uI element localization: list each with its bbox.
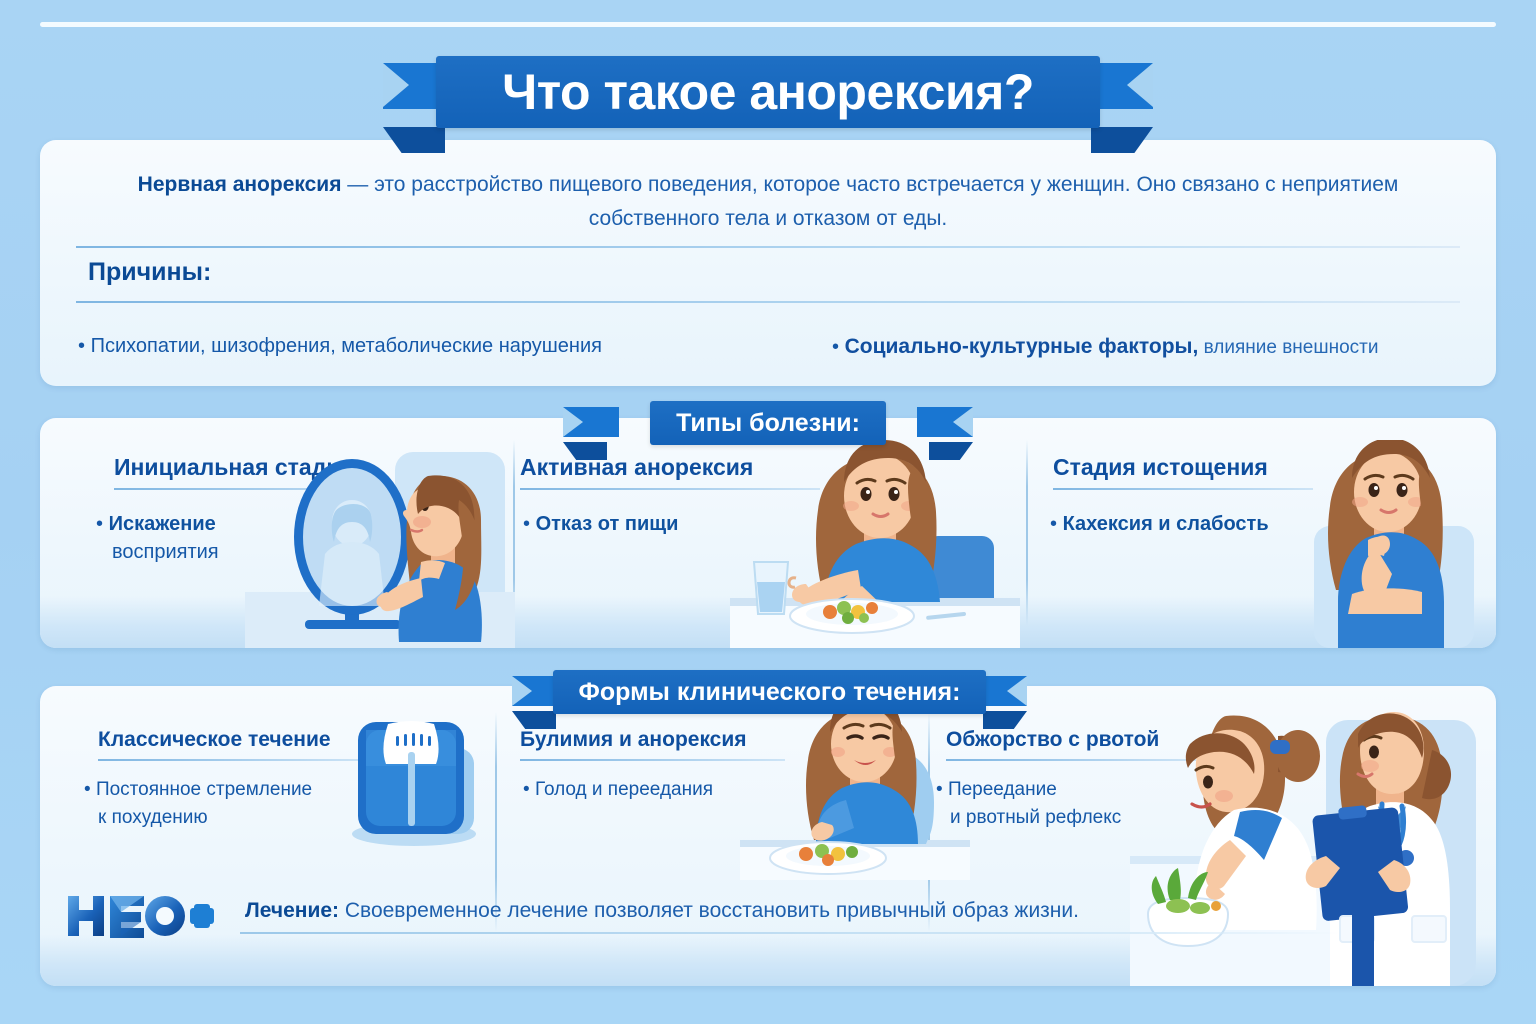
cause-text-1-tail: влияние внешности <box>1198 337 1378 358</box>
types-col-1-line1: Отказ от пищи <box>536 513 679 535</box>
neo-plus-logo <box>64 890 214 942</box>
bullet-glyph: • <box>1050 513 1057 535</box>
top-divider-rule <box>40 22 1496 27</box>
types-col-0-line1: Искажение <box>109 513 216 535</box>
intro-divider-2 <box>76 301 1460 303</box>
cause-item-1: • Социально-культурные факторы, влияние … <box>832 333 1378 362</box>
types-banner-label: Типы болезни: <box>650 401 886 445</box>
forms-col-2-heading: Обжорство с рвотой <box>946 728 1159 752</box>
column-divider-2 <box>1026 440 1028 626</box>
woman-at-mirror-illustration <box>245 442 515 648</box>
bullet-glyph: • <box>78 335 85 357</box>
woman-refusing-food-illustration <box>730 440 1020 648</box>
bathroom-scale-icon <box>342 712 492 852</box>
bullet-glyph: • <box>96 513 103 535</box>
causes-heading: Причины: <box>88 258 211 287</box>
types-col-0-bullet: • Искажение восприятия <box>96 510 219 566</box>
forms-col-1-heading-rest: и анорексия <box>613 728 746 751</box>
types-col-0-line2: восприятия <box>112 538 219 566</box>
types-card: Инициальная стадия • Искажение восприяти… <box>40 418 1496 648</box>
ribbon-wing-right <box>917 407 973 437</box>
intro-bold-lead: Нервная анорексия <box>138 173 342 196</box>
forms-banner-label: Формы клинического течения: <box>553 670 987 714</box>
forms-col-1-heading-bold: Булимия <box>520 728 613 751</box>
types-col-1-bullet: • Отказ от пищи <box>523 510 678 538</box>
intro-divider-1 <box>76 246 1460 248</box>
forms-col-1-bullet: • Голод и переедания <box>523 776 713 804</box>
intro-body: — это расстройство пищевого поведения, к… <box>341 173 1398 230</box>
types-section-banner: Типы болезни: <box>563 398 973 448</box>
forms-section-banner: Формы клинического течения: <box>512 667 1027 717</box>
cause-text-0: Психопатии, шизофрения, метаболические н… <box>91 335 602 357</box>
footer-divider <box>240 932 1340 934</box>
types-col-2-line1: Кахексия и слабость <box>1063 513 1269 535</box>
footer-label: Лечение: <box>245 899 339 922</box>
footer-treatment-text: Лечение: Своевременное лечение позволяет… <box>245 896 1079 926</box>
bullet-glyph: • <box>936 779 943 800</box>
bullet-glyph: • <box>523 779 530 800</box>
bullet-glyph: • <box>832 336 839 358</box>
footer-body: Своевременное лечение позволяет восстано… <box>339 899 1079 922</box>
forms-col-1-heading: Булимия и анорексия <box>520 728 747 752</box>
forms-col-2-line2: и рвотный рефлекс <box>950 804 1121 832</box>
ribbon-wing-left <box>563 407 619 437</box>
title-ribbon: Что такое анорексия? <box>383 47 1153 137</box>
bullet-glyph: • <box>84 779 91 800</box>
forms-col-0-line2: к похудению <box>98 804 208 832</box>
forms-col-2-line1: Переедание <box>948 779 1057 800</box>
forms-col-0-bullet: • Постоянное стремление к похудению <box>84 776 312 832</box>
cause-item-0: • Психопатии, шизофрения, метаболические… <box>78 332 602 360</box>
forms-col-0-heading: Классическое течение <box>98 728 331 752</box>
intro-paragraph: Нервная анорексия — это расстройство пищ… <box>76 168 1460 236</box>
footer-bar: Лечение: Своевременное лечение позволяет… <box>40 874 1496 986</box>
exhausted-woman-illustration <box>1280 440 1496 648</box>
forms-col-0-line1: Постоянное стремление <box>96 779 312 800</box>
logo-mark-icon <box>64 890 214 942</box>
forms-col-0-underline <box>98 759 368 761</box>
types-col-1-heading: Активная анорексия <box>520 454 753 481</box>
types-col-2-bullet: • Кахексия и слабость <box>1050 510 1269 538</box>
forms-col-1-line1: Голод и переедания <box>535 779 713 800</box>
cause-text-1-head: Социально-культурные факторы, <box>845 335 1199 358</box>
infographic-poster: Что такое анорексия? Нервная анорексия —… <box>0 0 1536 1024</box>
types-col-2-underline <box>1053 488 1313 490</box>
forms-col-2-bullet: • Переедание и рвотный рефлекс <box>936 776 1121 832</box>
bullet-glyph: • <box>523 513 530 535</box>
types-col-2-heading: Стадия истощения <box>1053 454 1268 481</box>
page-title: Что такое анорексия? <box>436 56 1100 128</box>
